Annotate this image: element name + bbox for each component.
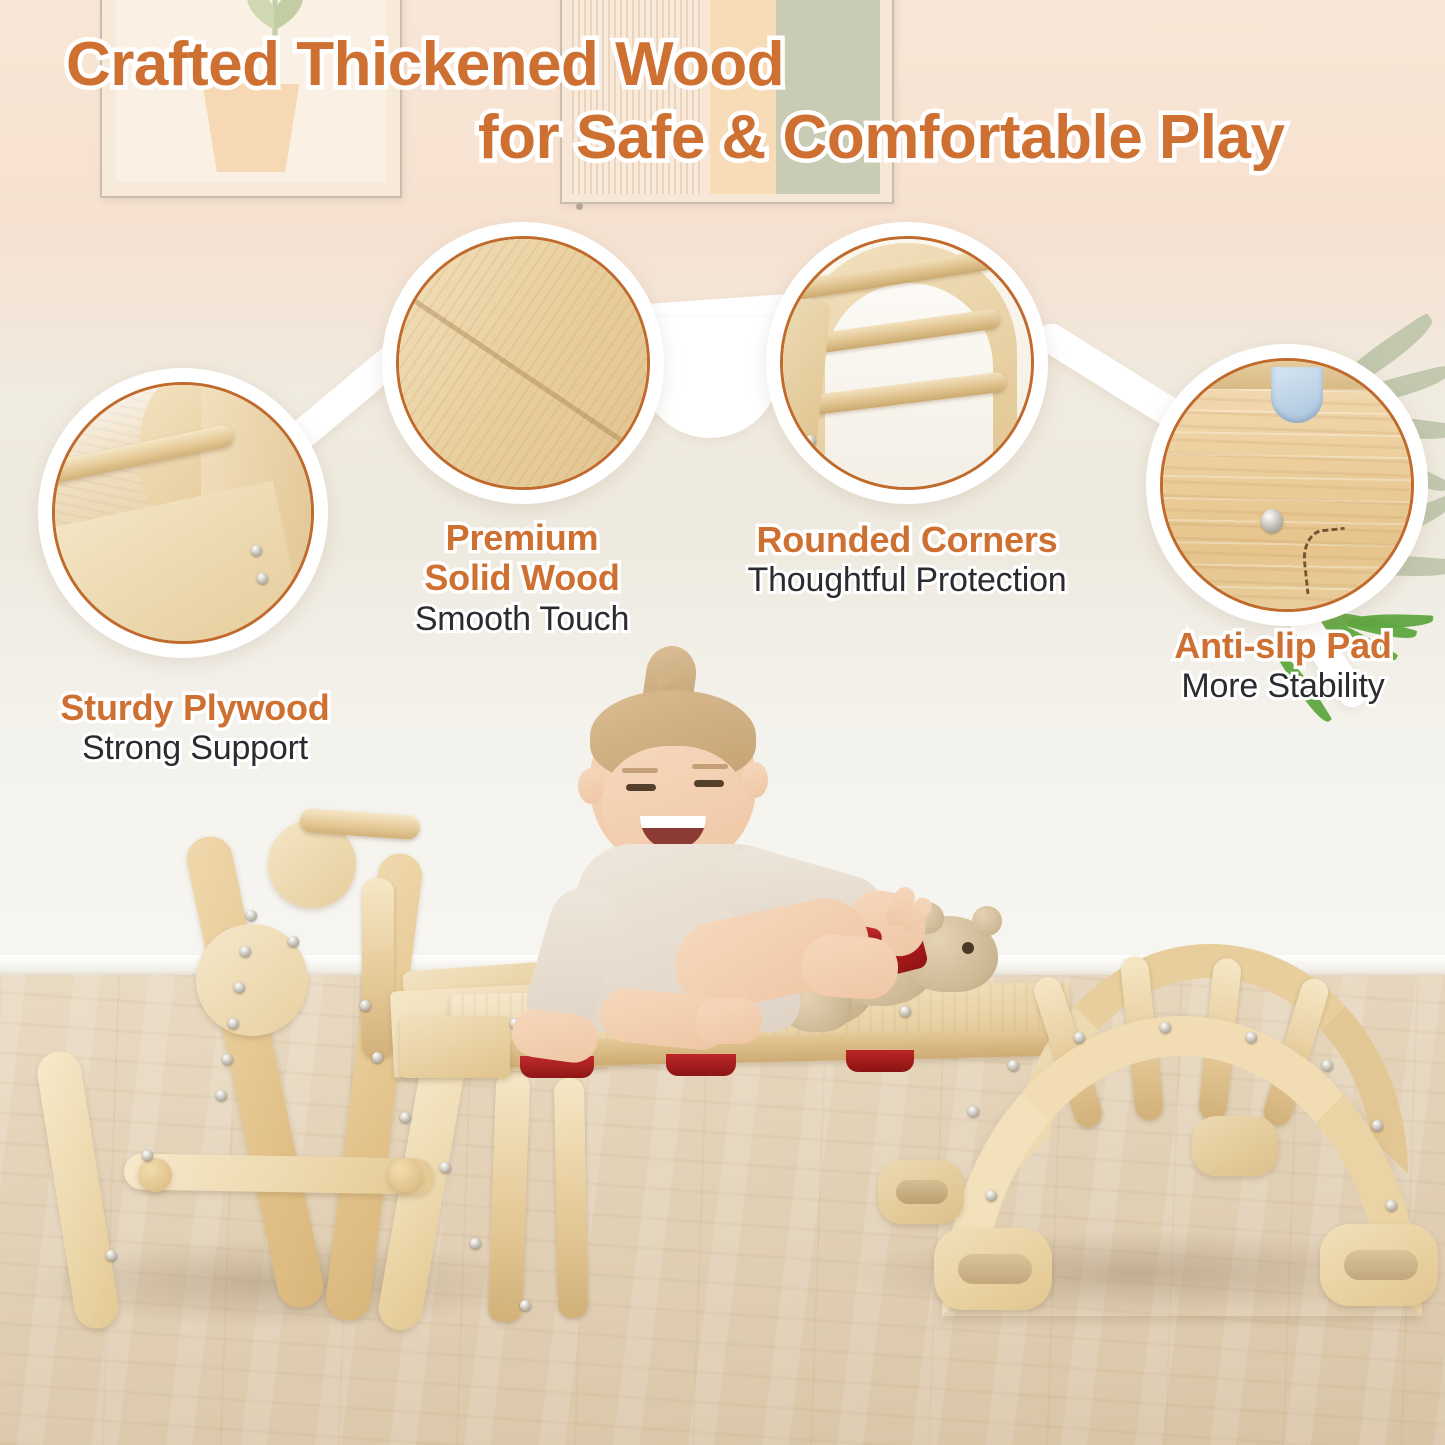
feature-circle-premium-solid-wood[interactable] bbox=[382, 222, 664, 504]
feature-label-rounded-corners: Rounded Corners Thoughtful Protection bbox=[692, 520, 1122, 600]
feature-title-rounded-corners: Rounded Corners bbox=[692, 520, 1122, 560]
feature-label-anti-slip-pad: Anti-slip Pad More Stability bbox=[1118, 626, 1445, 706]
wall-art-right-nail bbox=[576, 203, 583, 210]
headline-line-1: Crafted Thickened Wood bbox=[0, 28, 1445, 101]
feature-image-sturdy-plywood bbox=[52, 382, 314, 644]
feature-label-premium-solid-wood: Premium Solid Wood Smooth Touch bbox=[352, 518, 692, 639]
feature-title-anti-slip-pad: Anti-slip Pad bbox=[1118, 626, 1445, 666]
feature-subtitle-sturdy-plywood: Strong Support bbox=[10, 728, 380, 768]
headline-line-2: for Safe & Comfortable Play bbox=[0, 101, 1445, 174]
infographic-canvas: Crafted Thickened Wood for Safe & Comfor… bbox=[0, 0, 1445, 1445]
feature-image-anti-slip-pad bbox=[1160, 358, 1414, 612]
feature-circle-anti-slip-pad[interactable] bbox=[1146, 344, 1428, 626]
anti-slip-pad-shape bbox=[1271, 367, 1323, 423]
feature-circle-rounded-corners[interactable] bbox=[766, 222, 1048, 504]
feature-subtitle-anti-slip-pad: More Stability bbox=[1118, 666, 1445, 706]
feature-circle-sturdy-plywood[interactable] bbox=[38, 368, 328, 658]
feature-image-rounded-corners bbox=[780, 236, 1034, 490]
feature-title-sturdy-plywood: Sturdy Plywood bbox=[10, 688, 380, 728]
feature-subtitle-rounded-corners: Thoughtful Protection bbox=[692, 560, 1122, 600]
feature-title-premium-solid-wood-line2: Solid Wood bbox=[352, 558, 692, 598]
product-photo bbox=[0, 760, 1445, 1445]
screw-head-icon bbox=[1261, 509, 1283, 533]
feature-subtitle-premium-solid-wood: Smooth Touch bbox=[352, 599, 692, 639]
toddler bbox=[450, 650, 970, 1070]
feature-image-premium-solid-wood bbox=[396, 236, 650, 490]
headline: Crafted Thickened Wood for Safe & Comfor… bbox=[0, 28, 1445, 174]
feature-title-premium-solid-wood-line1: Premium bbox=[352, 518, 692, 558]
feature-label-sturdy-plywood: Sturdy Plywood Strong Support bbox=[10, 688, 380, 768]
